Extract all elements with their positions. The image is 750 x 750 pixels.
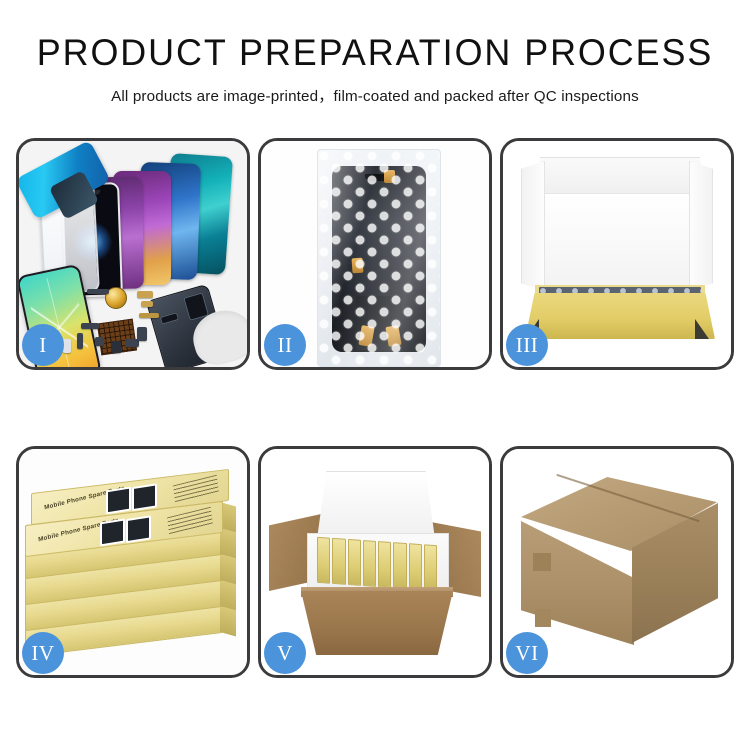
yellow-boxes-row	[317, 537, 437, 591]
yellow-box-item	[424, 544, 437, 591]
yellow-box-item	[393, 542, 406, 589]
step-badge-5: V	[264, 632, 306, 674]
yellow-box-item	[317, 537, 330, 584]
bubble-wrap-bag	[317, 149, 441, 367]
small-part-strip	[87, 289, 109, 294]
small-part-gold-clip	[141, 301, 153, 307]
yellow-box-item	[409, 543, 422, 590]
step-card-2[interactable]: II	[258, 138, 492, 370]
step-card-4[interactable]: Mobile Phone Spare Parts Mobile Phone Sp…	[16, 446, 250, 678]
box-side	[220, 554, 236, 584]
plastic-gloss-overlay	[318, 150, 440, 366]
box-spec-lines-upper	[173, 475, 219, 503]
small-part-ribbon	[139, 313, 159, 318]
box-window-lower-2	[126, 515, 151, 543]
page-title: PRODUCT PREPARATION PROCESS	[11, 34, 739, 71]
box-side	[220, 528, 236, 558]
small-part-gold-flex	[137, 291, 153, 298]
step-card-3[interactable]: III	[500, 138, 734, 370]
box-lid-right	[689, 161, 713, 291]
carton-body	[301, 591, 453, 655]
yellow-box-tray	[525, 293, 715, 339]
connector-icon	[160, 312, 180, 325]
box-lid-left	[521, 161, 545, 291]
carton-tape-patch-2	[535, 609, 551, 627]
foam-lid	[317, 471, 435, 539]
small-part-pin	[77, 333, 83, 349]
process-steps-grid: I II	[16, 138, 734, 678]
yellow-box-item	[378, 541, 391, 588]
step-badge-3: III	[506, 324, 548, 366]
small-part-speaker	[111, 341, 121, 353]
box-window-lower-1	[100, 518, 125, 546]
yellow-box-item	[363, 540, 376, 587]
box-side	[220, 580, 236, 610]
yellow-box-item	[348, 539, 361, 586]
small-part-sim-tray	[63, 339, 71, 353]
step-card-5[interactable]: V	[258, 446, 492, 678]
step-card-1[interactable]: I	[16, 138, 250, 370]
yellow-box-item	[332, 538, 345, 585]
page-header: PRODUCT PREPARATION PROCESS All products…	[0, 0, 750, 106]
box-spec-lines-lower	[167, 507, 213, 535]
foam-back-panel	[539, 193, 701, 299]
step-badge-1: I	[22, 324, 64, 366]
box-window-upper-2	[132, 483, 157, 511]
page-subtitle: All products are image-printed，film-coat…	[0, 84, 750, 106]
small-part-chip	[95, 337, 104, 346]
step-card-6[interactable]: VI	[500, 446, 734, 678]
step-badge-6: VI	[506, 632, 548, 674]
step-badge-2: II	[264, 324, 306, 366]
box-window-upper-1	[106, 486, 131, 514]
box-side	[220, 606, 236, 636]
small-part-button	[137, 327, 147, 341]
carton-tape-patch-1	[533, 553, 551, 571]
step-badge-4: IV	[22, 632, 64, 674]
box-stack: Mobile Phone Spare Parts Mobile Phone Sp…	[25, 467, 241, 663]
small-part-bracket	[81, 323, 99, 329]
